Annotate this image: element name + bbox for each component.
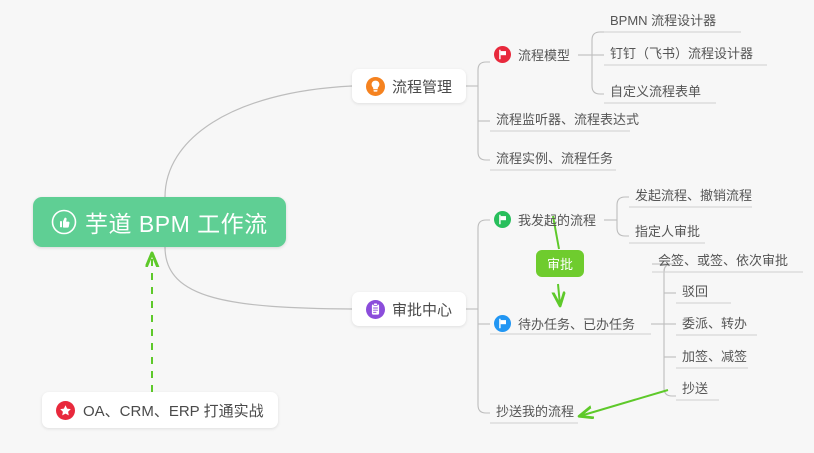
bottom-note-label: OA、CRM、ERP 打通实战: [83, 400, 264, 421]
star-icon: [56, 401, 75, 420]
edge-ac-cap-top: [478, 220, 490, 228]
node-cc-to-me[interactable]: 抄送我的流程: [490, 401, 580, 423]
node-start-cancel-process[interactable]: 发起流程、撤销流程: [629, 185, 758, 207]
root-label: 芋道 BPM 工作流: [85, 205, 268, 239]
node-listener-expression[interactable]: 流程监听器、流程表达式: [490, 109, 645, 131]
edge-mine-cap-top: [617, 197, 629, 205]
node-delegate-transfer[interactable]: 委派、转办: [676, 313, 753, 335]
node-add-remove-sign[interactable]: 加签、减签: [676, 346, 753, 368]
edge-mine-cap-bottom: [617, 228, 629, 236]
edge-model-cap-top: [592, 32, 604, 40]
node-instance-task[interactable]: 流程实例、流程任务: [490, 148, 619, 170]
branch-node-process-management[interactable]: 流程管理: [352, 69, 466, 103]
node-reject[interactable]: 驳回: [676, 281, 714, 303]
edge-pm-spine-cap-top: [478, 62, 490, 70]
label-my-initiated: 我发起的流程: [518, 210, 596, 229]
label-listener-expression: 流程监听器、流程表达式: [496, 111, 639, 129]
arrow-cc-to-ccme: [580, 390, 668, 416]
node-custom-process-form[interactable]: 自定义流程表单: [604, 81, 707, 103]
thumbs-up-icon: [51, 209, 77, 235]
edge-todo-cap-bottom: [664, 388, 676, 396]
label-process-model: 流程模型: [518, 45, 570, 64]
label-cc: 抄送: [682, 380, 708, 398]
edge-ac-cap-bottom: [478, 405, 490, 413]
label-assignee-approval: 指定人审批: [635, 223, 700, 241]
edge-root-to-process-management: [165, 86, 352, 197]
approval-annotation-box[interactable]: 审批: [536, 250, 584, 277]
node-bpmn-designer[interactable]: BPMN 流程设计器: [604, 10, 722, 32]
branch-node-approval-center[interactable]: 审批中心: [352, 292, 466, 326]
mindmap-canvas: 芋道 BPM 工作流 OA、CRM、ERP 打通实战 流程管理: [0, 0, 814, 453]
bottom-note-node[interactable]: OA、CRM、ERP 打通实战: [42, 392, 278, 428]
flag-red-icon: [494, 46, 511, 63]
arrow-approval-flow-lower: [558, 284, 560, 305]
node-countersign[interactable]: 会签、或签、依次审批: [652, 250, 794, 272]
edge-model-cap-bottom: [592, 86, 604, 94]
label-add-remove-sign: 加签、减签: [682, 348, 747, 366]
label-bpmn-designer: BPMN 流程设计器: [610, 12, 716, 30]
node-assignee-approval[interactable]: 指定人审批: [629, 221, 706, 243]
label-custom-process-form: 自定义流程表单: [610, 83, 701, 101]
label-instance-task: 流程实例、流程任务: [496, 150, 613, 168]
node-dingtalk-feishu-designer[interactable]: 钉钉（飞书）流程设计器: [604, 43, 759, 65]
node-cc[interactable]: 抄送: [676, 378, 714, 400]
edge-pm-spine-cap-bottom: [478, 152, 490, 160]
lightbulb-icon: [366, 77, 385, 96]
label-reject: 驳回: [682, 283, 708, 301]
root-node[interactable]: 芋道 BPM 工作流: [33, 197, 286, 247]
branch-label-process-management: 流程管理: [392, 76, 452, 97]
approval-annotation-label: 审批: [547, 254, 573, 273]
flag-blue-icon: [494, 315, 511, 332]
edge-root-to-approval-center: [165, 247, 352, 309]
label-start-cancel-process: 发起流程、撤销流程: [635, 187, 752, 205]
label-delegate-transfer: 委派、转办: [682, 315, 747, 333]
clipboard-icon: [366, 300, 385, 319]
node-todo-done-tasks[interactable]: 待办任务、已办任务: [492, 313, 641, 335]
label-dingtalk-feishu-designer: 钉钉（飞书）流程设计器: [610, 45, 753, 63]
node-my-initiated[interactable]: 我发起的流程: [492, 209, 602, 231]
label-countersign: 会签、或签、依次审批: [658, 252, 788, 270]
branch-label-approval-center: 审批中心: [392, 299, 452, 320]
flag-green-icon: [494, 211, 511, 228]
label-cc-to-me: 抄送我的流程: [496, 403, 574, 421]
node-process-model[interactable]: 流程模型: [492, 44, 576, 66]
label-todo-done-tasks: 待办任务、已办任务: [518, 314, 635, 333]
